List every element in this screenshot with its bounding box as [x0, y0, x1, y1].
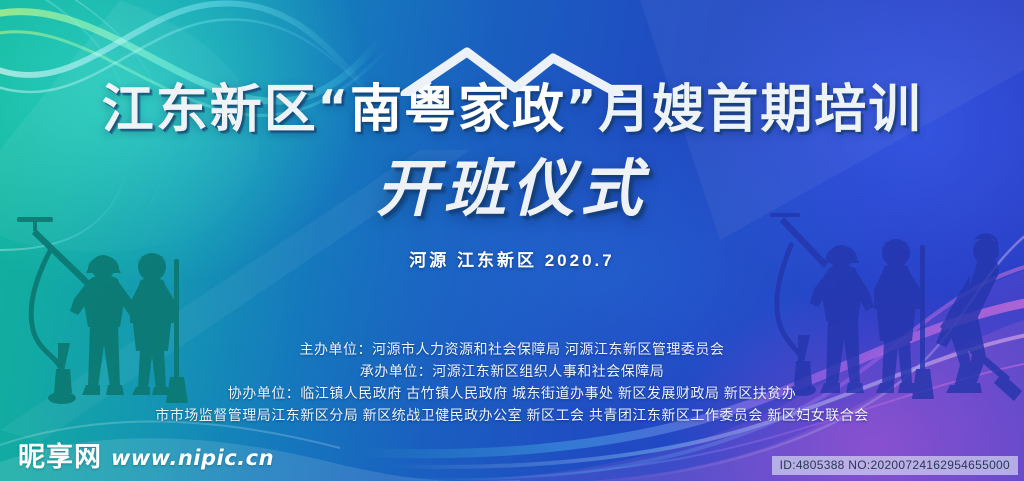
headline-block: 江东新区“南粤家政”月嫂首期培训 开班仪式 河源 江东新区 2020.7: [0, 84, 1024, 271]
organizer-line-coorganizer: 协办单位：临江镇人民政府 古竹镇人民政府 城东街道办事处 新区发展财政局 新区扶…: [0, 382, 1024, 404]
event-meta: 河源 江东新区 2020.7: [0, 246, 1024, 271]
watermark-brand: 昵享网: [18, 444, 102, 471]
organizer-line-undertaker: 承办单位：河源江东新区组织人事和社会保障局: [0, 360, 1024, 382]
title-suffix: 月嫂首期培训: [598, 80, 922, 140]
image-id-strip: ID:4805388 NO:20200724162954655000: [772, 456, 1018, 475]
organizer-line-host: 主办单位：河源市人力资源和社会保障局 河源江东新区管理委员会: [0, 338, 1024, 360]
organizer-block: 主办单位：河源市人力资源和社会保障局 河源江东新区管理委员会 承办单位：河源江东…: [0, 338, 1024, 426]
page-subtitle: 开班仪式: [0, 158, 1024, 220]
organizer-line-coorganizer-cont: 市市场监督管理局江东新区分局 新区统战卫健民政办公室 新区工会 共青团江东新区工…: [0, 404, 1024, 426]
house-roof-icon: [397, 44, 627, 96]
page-title: 江东新区“南粤家政”月嫂首期培训: [102, 84, 923, 136]
title-prefix: 江东新区: [102, 80, 318, 140]
quote-open: “: [318, 80, 350, 134]
poster-canvas: 江东新区“南粤家政”月嫂首期培训 开班仪式 河源 江东新区 2020.7 主办单…: [0, 0, 1024, 481]
watermark: 昵享网 www.nipic.cn: [18, 444, 274, 471]
watermark-url: www.nipic.cn: [111, 448, 274, 471]
